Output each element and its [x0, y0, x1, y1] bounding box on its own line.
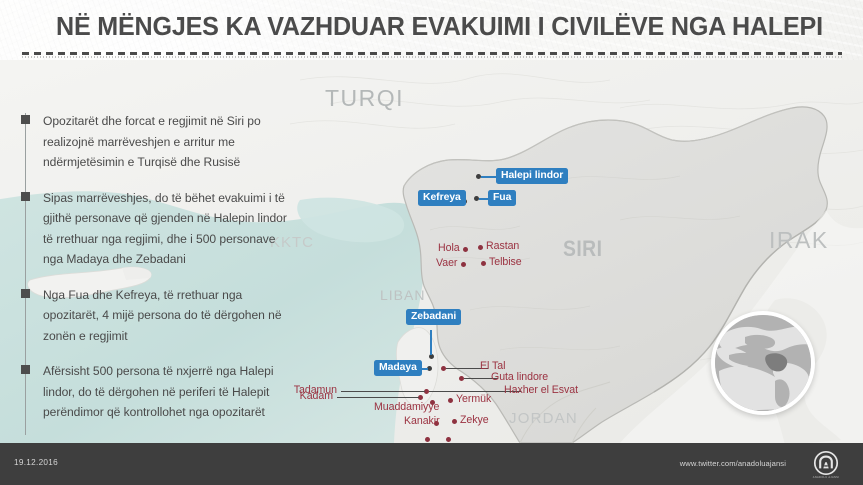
map-label-kanakir: Kanakir [404, 415, 440, 427]
page-title: NË MËNGJES KA VAZHDUAR EVAKUIMI I CIVILË… [56, 13, 823, 42]
map-label-kadam: Kadam [300, 390, 333, 402]
bullet-square-icon [21, 289, 30, 298]
bullet-text: Sipas marrëveshjes, do të bëhet evakuimi… [43, 188, 293, 270]
map-dot-yermuk [448, 398, 453, 403]
header: NË MËNGJES KA VAZHDUAR EVAKUIMI I CIVILË… [0, 0, 863, 58]
map-dot-zekye [452, 419, 457, 424]
bullet-item: Sipas marrëveshjes, do të bëhet evakuimi… [21, 188, 293, 270]
map-label-guta-lindore: Guta lindore [491, 371, 548, 383]
map-tag-kefreya[interactable]: Kefreya [418, 190, 466, 206]
map-label-zekye: Zekye [460, 414, 489, 426]
bullet-item: Nga Fua dhe Kefreya, të rrethuar nga opo… [21, 285, 293, 347]
leader-line-kadam [337, 397, 419, 398]
map-label-muaddamiyye: Muaddamiyye [374, 401, 439, 413]
footer-date: 19.12.2016 [14, 458, 58, 467]
map-dot-hola [463, 247, 468, 252]
infographic-root: NË MËNGJES KA VAZHDUAR EVAKUIMI I CIVILË… [0, 0, 863, 485]
divider-dashed-line [22, 52, 842, 55]
bullet-text: Nga Fua dhe Kefreya, të rrethuar nga opo… [43, 285, 293, 347]
globe-inset-inner [715, 315, 811, 411]
map-tag-fua[interactable]: Fua [488, 190, 516, 206]
leader-line-zebadani [430, 330, 432, 355]
map-dot-rastan [478, 245, 483, 250]
map-dot-vaer [461, 262, 466, 267]
bullet-square-icon [21, 365, 30, 374]
map-label-rastan: Rastan [486, 240, 519, 252]
bullet-text: Opozitarët dhe forcat e regjimit në Siri… [43, 111, 293, 173]
globe-inset [711, 311, 815, 415]
header-divider [22, 52, 842, 60]
map-label-yermuk: Yermük [456, 393, 491, 405]
globe-inset-svg [715, 315, 811, 411]
bullet-text: Afërsisht 500 persona të nxjerrë nga Hal… [43, 361, 293, 423]
bullet-list: Opozitarët dhe forcat e regjimit në Siri… [21, 111, 293, 438]
map-tag-madaya[interactable]: Madaya [374, 360, 422, 376]
map-label-haxher-el-esvat: Haxher el Esvat [504, 384, 578, 396]
divider-dotted-line [22, 56, 842, 58]
logo-subtitle: ANADOLU AJANSI [813, 475, 839, 479]
map-label-hola: Hola [438, 242, 460, 254]
bullet-square-icon [21, 115, 30, 124]
map-dot-telbise [481, 261, 486, 266]
leader-line-tadamun [341, 391, 425, 392]
map-tag-zebadani[interactable]: Zebadani [406, 309, 461, 325]
map-tag-halepi-lindor[interactable]: Halepi lindor [496, 168, 568, 184]
bullet-item: Opozitarët dhe forcat e regjimit në Siri… [21, 111, 293, 173]
footer-twitter-link[interactable]: www.twitter.com/anadoluajansi [680, 459, 786, 468]
map-dot-bibbile [425, 437, 430, 442]
footer-bar: 19.12.2016 www.twitter.com/anadoluajansi… [0, 443, 863, 485]
anadolu-agency-logo-icon: ANADOLU AJANSI [801, 450, 851, 480]
map-dot-beyt-saham [446, 437, 451, 442]
bullet-square-icon [21, 192, 30, 201]
bullet-item: Afërsisht 500 persona të nxjerrë nga Hal… [21, 361, 293, 423]
map-label-vaer: Vaer [436, 257, 457, 269]
map-label-telbise: Telbise [489, 256, 522, 268]
